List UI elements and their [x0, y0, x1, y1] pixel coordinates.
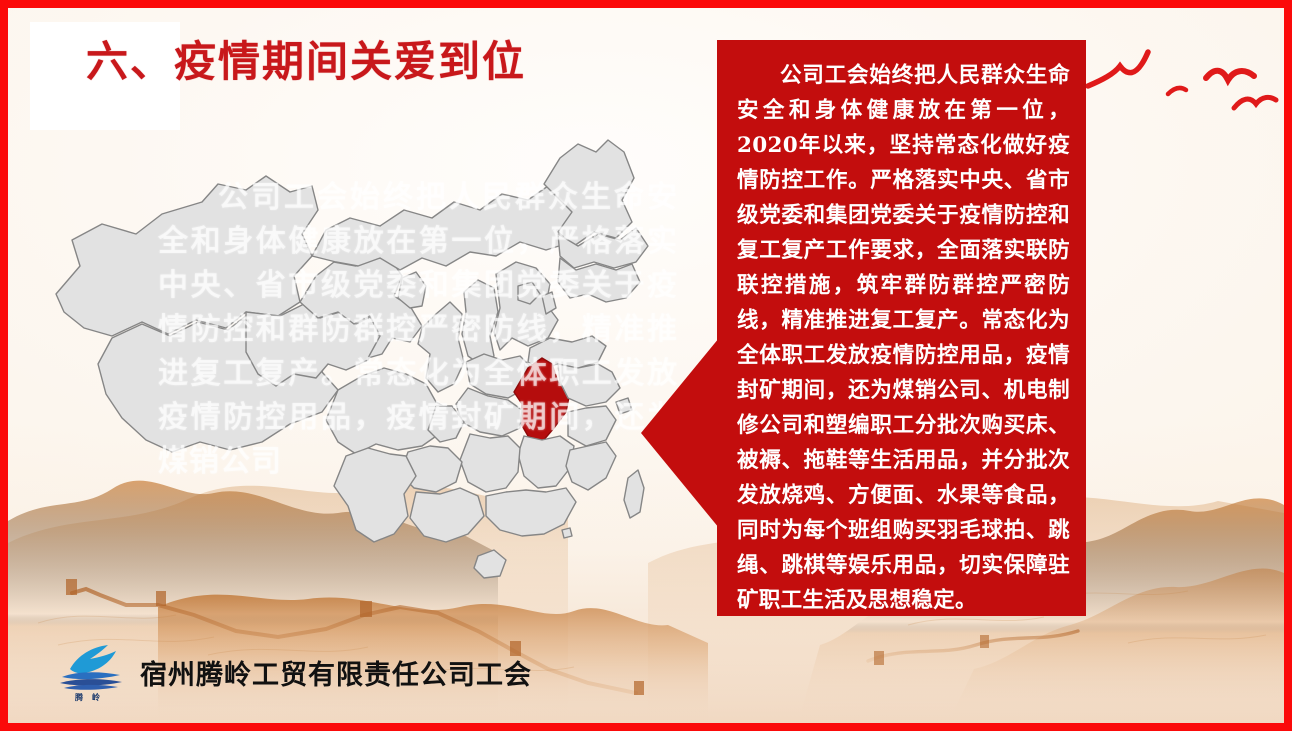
- bird-wave-logo-icon: [56, 643, 128, 695]
- region-hainan: [474, 550, 506, 578]
- region-hongkong: [562, 528, 572, 538]
- logo-caption: 腾岭: [56, 692, 128, 703]
- slide-canvas: 公司工会始终把人民群众生命安全和身体健康放在第一位，严格落实中央、省市级党委和集…: [8, 8, 1284, 723]
- callout-paragraph: 公司工会始终把人民群众生命安全和身体健康放在第一位，2020年以来，坚持常态化做…: [737, 58, 1070, 618]
- region-guangdong: [486, 488, 576, 536]
- callout-panel: 公司工会始终把人民群众生命安全和身体健康放在第一位，2020年以来，坚持常态化做…: [717, 40, 1086, 616]
- region-zhejiang: [568, 406, 616, 446]
- page-title: 六、疫情期间关爱到位: [86, 34, 526, 90]
- region-inner-mongolia: [312, 186, 584, 270]
- region-yunnan: [334, 448, 416, 542]
- footer: 腾岭 宿州腾岭工贸有限责任公司工会: [56, 643, 532, 701]
- birds-icon: [1086, 30, 1284, 135]
- china-map: [50, 106, 710, 636]
- region-hunan: [460, 434, 520, 492]
- region-xinjiang: [56, 176, 318, 336]
- callout-pointer-shape: [641, 338, 719, 528]
- company-logo: 腾岭: [56, 643, 128, 701]
- organization-name: 宿州腾岭工贸有限责任公司工会: [140, 653, 532, 692]
- china-map-svg: [50, 106, 710, 636]
- region-shanghai: [616, 398, 632, 414]
- region-shaanxi: [418, 302, 464, 392]
- region-guangxi: [410, 488, 484, 542]
- region-shanxi: [462, 280, 498, 366]
- region-jiangxi: [518, 436, 574, 488]
- flying-birds: [1086, 30, 1284, 135]
- slide-root: 公司工会始终把人民群众生命安全和身体健康放在第一位，严格落实中央、省市级党委和集…: [0, 0, 1292, 731]
- callout-pointer: [641, 338, 719, 528]
- region-fujian: [566, 442, 616, 490]
